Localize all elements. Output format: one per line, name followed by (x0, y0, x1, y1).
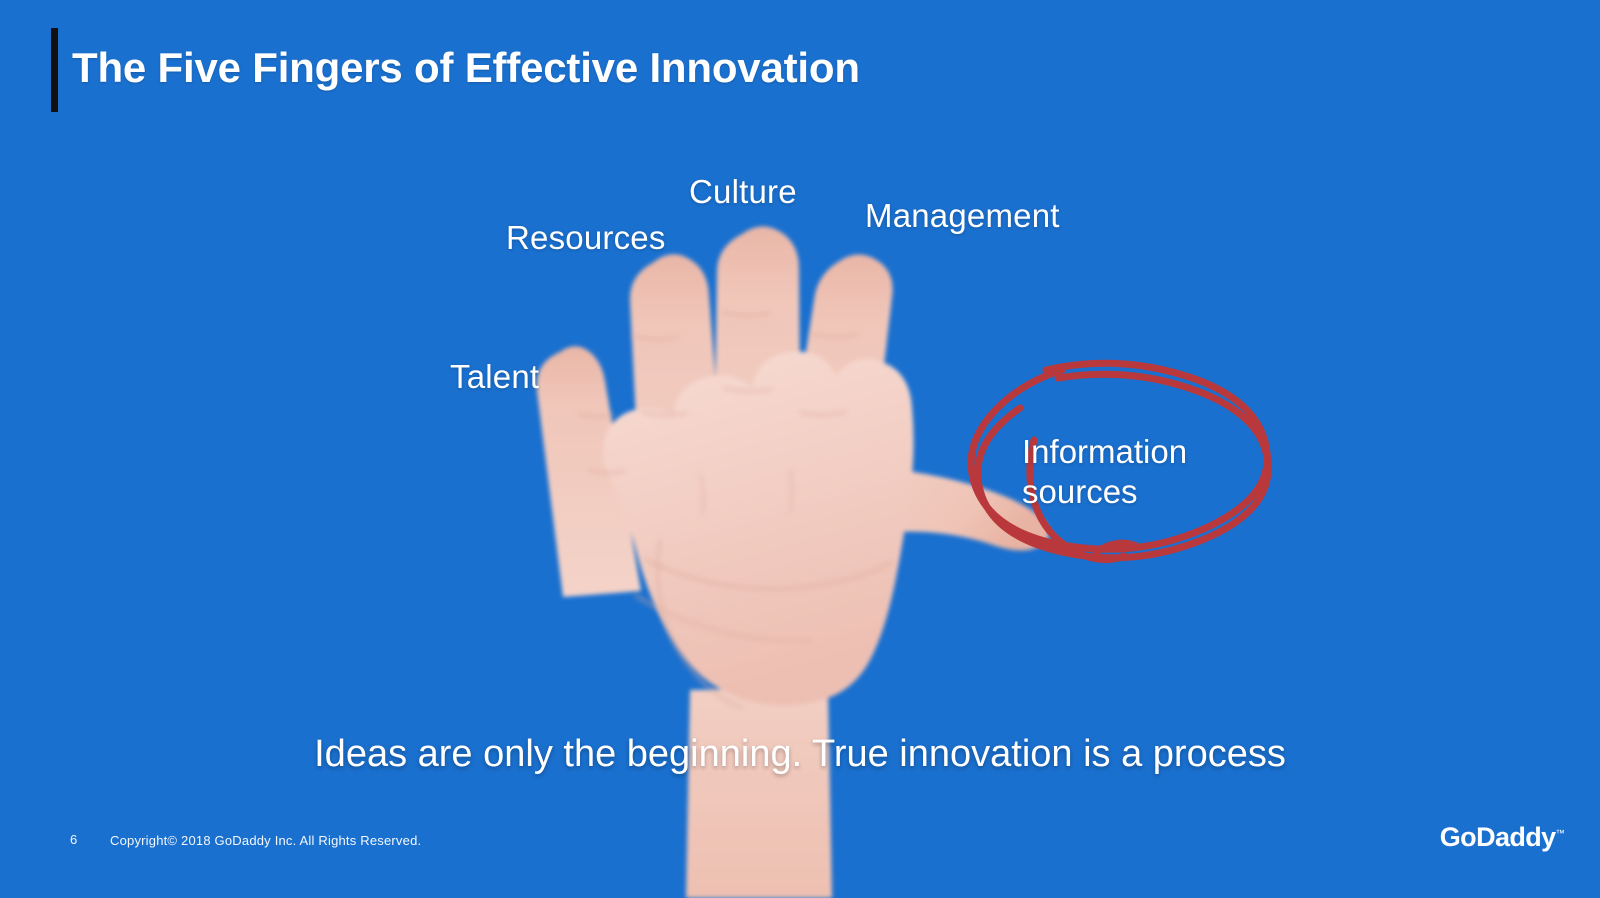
footer-page-number: 6 (70, 832, 77, 847)
slide-caption: Ideas are only the beginning. True innov… (0, 733, 1600, 776)
page-title: The Five Fingers of Effective Innovation (72, 44, 860, 92)
godaddy-logo: GoDaddy™ (1440, 822, 1564, 853)
finger-label-talent: Talent (450, 358, 539, 396)
trademark-icon: ™ (1556, 828, 1564, 838)
annotation-line-2: sources (1022, 472, 1232, 512)
annotation-line-1: Information (1022, 432, 1232, 472)
finger-label-management: Management (865, 197, 1060, 235)
slide-canvas: The Five Fingers of Effective Innovation (0, 0, 1600, 898)
annotation-label: Information sources (1022, 432, 1232, 512)
finger-label-resources: Resources (506, 219, 666, 257)
title-accent-bar (51, 28, 58, 112)
footer-copyright: Copyright© 2018 GoDaddy Inc. All Rights … (110, 833, 421, 848)
brand-name: GoDaddy (1440, 822, 1556, 852)
finger-label-culture: Culture (689, 173, 797, 211)
